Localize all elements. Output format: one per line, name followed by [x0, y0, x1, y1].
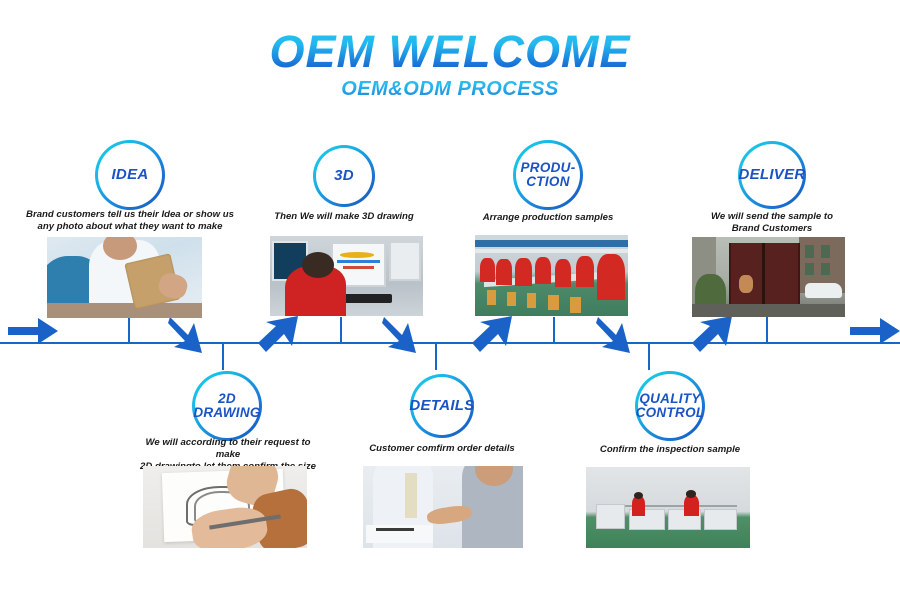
step-idea-caption: Brand customers tell us their Idea or sh… — [20, 209, 240, 233]
step-details-caption: Customer comfirm order details — [352, 443, 532, 455]
step-2d-drawing-circle[interactable]: 2D DRAWING — [192, 371, 262, 441]
step-3d-circle[interactable]: 3D — [313, 145, 375, 207]
step-idea-photo — [47, 237, 202, 318]
step-deliver-photo — [692, 237, 845, 317]
step-2d-drawing-label: 2D DRAWING — [193, 392, 260, 420]
timeline-tick-7 — [766, 317, 768, 343]
timeline-tick-5 — [553, 317, 555, 343]
timeline-axis — [0, 342, 900, 344]
step-quality-control-photo — [586, 467, 750, 548]
connector-arrow-up-right-1 — [258, 312, 300, 356]
step-3d-caption: Then We will make 3D drawing — [254, 211, 434, 223]
step-production-caption: Arrange production samples — [458, 212, 638, 224]
step-2d-drawing-photo — [143, 466, 307, 548]
step-details-label: DETAILS — [409, 398, 474, 413]
step-3d-photo — [270, 236, 423, 316]
step-deliver-caption: We will send the sample to Brand Custome… — [682, 211, 862, 235]
connector-arrow-down-right-2 — [382, 313, 424, 357]
step-idea-circle[interactable]: IDEA — [95, 140, 165, 210]
connector-arrow-up-right-2 — [472, 312, 514, 356]
step-production-label: PRODU- CTION — [520, 161, 575, 189]
timeline-tick-1 — [128, 317, 130, 343]
connector-arrow-up-right-3 — [692, 312, 734, 356]
connector-arrow-down-right-3 — [596, 313, 638, 357]
step-deliver-circle[interactable]: DELIVER — [738, 141, 806, 209]
page-title: OEM WELCOME — [0, 26, 900, 78]
step-quality-control-label: QUALITY CONTROL — [636, 392, 705, 420]
timeline-tick-2 — [222, 344, 224, 370]
step-3d-label: 3D — [334, 168, 354, 183]
connector-arrow-down-right-1 — [168, 313, 210, 357]
step-quality-control-circle[interactable]: QUALITY CONTROL — [635, 371, 705, 441]
step-quality-control-caption: Confirm the inspection sample — [580, 444, 760, 456]
page-subtitle: OEM&ODM PROCESS — [0, 78, 900, 101]
timeline-tick-3 — [340, 317, 342, 343]
timeline-end-arrow-icon — [850, 318, 900, 344]
step-idea-label: IDEA — [111, 167, 148, 182]
step-production-circle[interactable]: PRODU- CTION — [513, 140, 583, 210]
step-production-photo — [475, 235, 628, 316]
timeline-tick-4 — [435, 344, 437, 370]
step-details-photo — [363, 466, 523, 548]
timeline-start-arrow-icon — [8, 318, 58, 344]
step-details-circle[interactable]: DETAILS — [410, 374, 474, 438]
timeline-tick-6 — [648, 344, 650, 370]
process-infographic: OEM WELCOME OEM&ODM PROCESS — [0, 0, 900, 600]
step-deliver-label: DELIVER — [738, 167, 805, 182]
